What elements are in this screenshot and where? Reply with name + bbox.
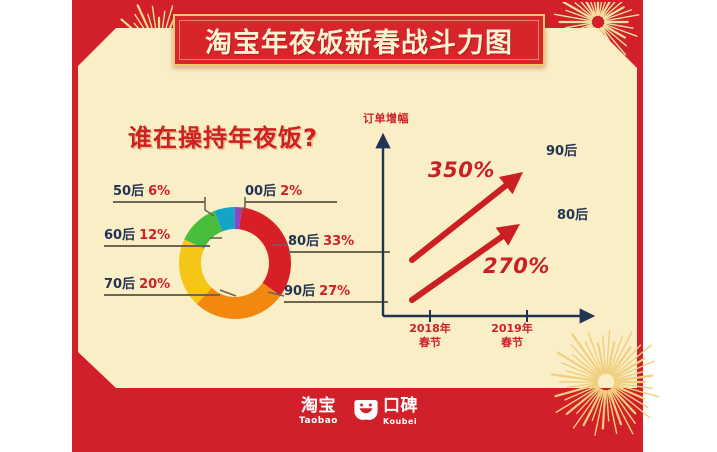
- growth-series-label-80hou: 80后: [557, 204, 588, 223]
- x-tick-line2: 春节: [482, 336, 542, 350]
- page-title: 淘宝年夜饭新春战斗力图: [205, 21, 513, 60]
- pie-label-percent: 27%: [319, 284, 350, 299]
- title-banner: 淘宝年夜饭新春战斗力图: [173, 14, 545, 66]
- donut-slice-80后: [239, 207, 291, 295]
- taobao-logo-cn: 淘宝: [301, 398, 336, 415]
- infographic-poster: 淘宝年夜饭新春战斗力图 谁在操持年夜饭? 50后6% 60后12% 70后20%…: [0, 0, 717, 452]
- pie-label-70hou: 70后20%: [104, 277, 220, 296]
- pie-label-underline: [113, 201, 205, 203]
- koubei-logo-cn: 口碑: [383, 398, 418, 415]
- x-tick-label-2019: 2019年 春节: [482, 322, 542, 350]
- x-tick-line1: 2018年: [400, 322, 460, 336]
- koubei-logo-text: 口碑 Koubei: [383, 398, 418, 426]
- pie-label-category: 50后: [113, 184, 144, 199]
- growth-series-label-90hou: 90后: [546, 140, 577, 159]
- pie-chart-heading: 谁在操持年夜饭?: [128, 118, 318, 153]
- pie-label-percent: 2%: [280, 184, 302, 199]
- pie-label-category: 70后: [104, 277, 135, 292]
- taobao-logo-en: Taobao: [299, 417, 338, 426]
- pie-label-underline: [104, 294, 220, 296]
- pie-label-percent: 6%: [148, 184, 170, 199]
- pie-label-60hou: 60后12%: [104, 228, 210, 247]
- taobao-logo: 淘宝 Taobao: [299, 398, 338, 426]
- pie-label-category: 90后: [284, 284, 315, 299]
- x-tick-line1: 2019年: [482, 322, 542, 336]
- pie-label-category: 60后: [104, 228, 135, 243]
- growth-arrow-shaft-90后: [412, 180, 513, 260]
- pie-label-50hou: 50后6%: [113, 184, 205, 203]
- x-tick-label-2018: 2018年 春节: [400, 322, 460, 350]
- x-tick-line2: 春节: [400, 336, 460, 350]
- koubei-logo: 口碑 Koubei: [354, 398, 418, 426]
- growth-annotation-90hou: 350%: [428, 158, 495, 182]
- pie-label-percent: 33%: [323, 234, 354, 249]
- pie-label-00hou: 00后2%: [245, 184, 337, 203]
- footer-logo-bar: 淘宝 Taobao 口碑 Koubei: [0, 398, 717, 426]
- growth-arrow-head-80后: [496, 224, 520, 246]
- koubei-logo-en: Koubei: [383, 418, 418, 426]
- pie-label-category: 00后: [245, 184, 276, 199]
- pie-label-percent: 20%: [139, 277, 170, 292]
- pie-label-percent: 12%: [139, 228, 170, 243]
- growth-annotation-80hou: 270%: [483, 254, 550, 278]
- pie-label-category: 80后: [288, 234, 319, 249]
- donut-chart: [176, 204, 294, 322]
- koubei-smile-icon: [354, 399, 378, 425]
- pie-label-underline: [104, 245, 210, 247]
- pie-label-underline: [245, 201, 337, 203]
